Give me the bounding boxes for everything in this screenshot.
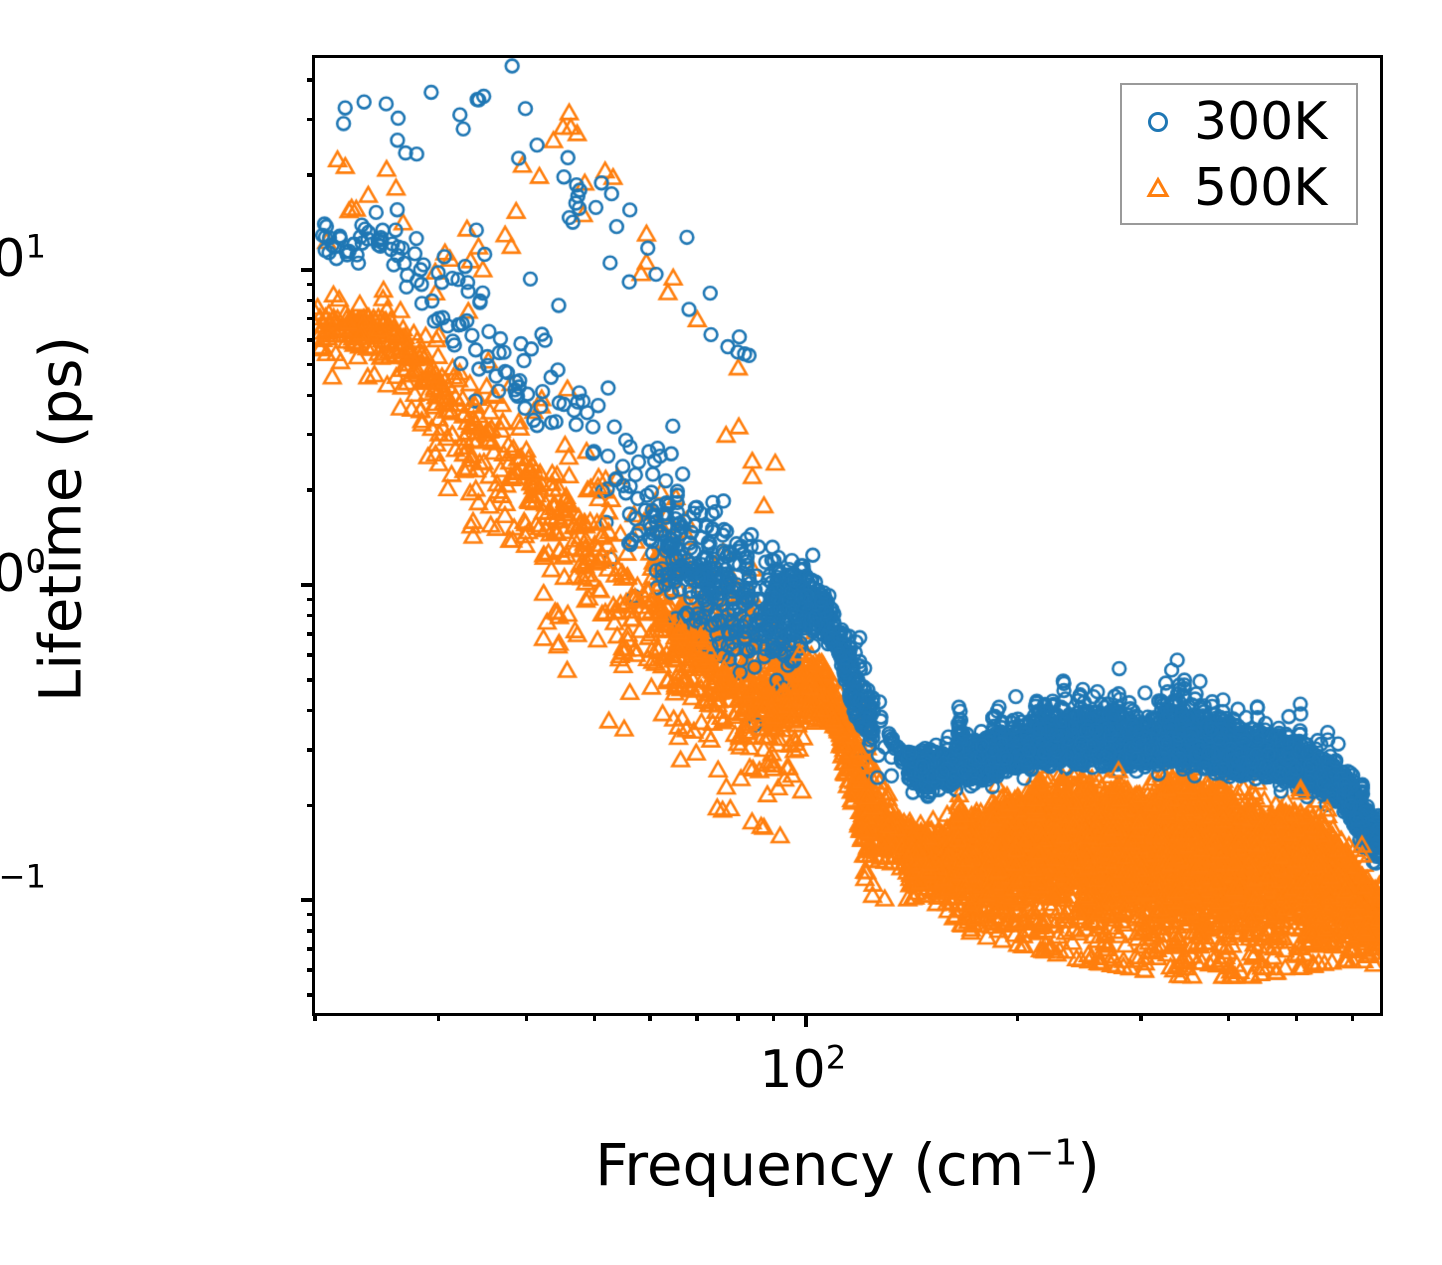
legend-label-500k: 500K [1194, 162, 1327, 214]
x-axis-tick [593, 1013, 597, 1021]
y-axis-tick [307, 338, 315, 342]
y-axis-tick [307, 929, 315, 933]
legend-circle-open-icon [1122, 91, 1194, 153]
y-axis-tick [307, 993, 315, 997]
y-axis-tick [307, 363, 315, 367]
y-axis-tick [307, 913, 315, 917]
y-axis-tick [307, 394, 315, 398]
y-axis-tick [307, 632, 315, 636]
y-axis-tick [307, 748, 315, 752]
x-axis-title-paren: ) [1077, 1131, 1100, 1199]
y-axis-tick [307, 78, 315, 82]
legend-box: 300K 500K [1120, 83, 1358, 225]
y-axis-tick [307, 173, 315, 177]
y-axis-tick [307, 804, 315, 808]
x-axis-title-exponent: −1 [1024, 1133, 1077, 1174]
x-axis-tick [313, 1013, 317, 1021]
x-axis-tick [695, 1013, 699, 1021]
x-axis-tick [437, 1013, 441, 1021]
x-axis-tick [648, 1013, 652, 1021]
y-axis-tick [301, 268, 315, 272]
y-axis-tick [307, 653, 315, 657]
y-axis-tick [307, 968, 315, 972]
x-axis-tick [1351, 1013, 1355, 1021]
x-axis-tick [1016, 1013, 1020, 1021]
legend-triangle-open-icon [1122, 157, 1194, 219]
y-axis-tick [307, 299, 315, 303]
y-axis-tick [307, 598, 315, 602]
legend-entry-300k[interactable]: 300K [1122, 91, 1356, 153]
x-axis-tick [1139, 1013, 1143, 1021]
y-axis-tick [307, 433, 315, 437]
y-axis-tick [301, 583, 315, 587]
legend-label-300k: 300K [1194, 96, 1327, 148]
y-axis-tick [307, 317, 315, 321]
x-axis-title: Frequency (cm−1) [312, 1136, 1383, 1194]
y-axis-tick [307, 947, 315, 951]
x-axis-tick [804, 1013, 808, 1027]
x-tick-label: 102 [760, 1044, 847, 1096]
x-axis-tick [1227, 1013, 1231, 1021]
x-axis-tick [1295, 1013, 1299, 1021]
y-axis-tick [307, 488, 315, 492]
legend-entry-500k[interactable]: 500K [1122, 157, 1356, 219]
y-axis-tick [307, 678, 315, 682]
figure-canvas: 10110010−1 102 Frequency (cm−1) Lifetime… [0, 0, 1442, 1265]
x-axis-tick [525, 1013, 529, 1021]
y-axis-tick [307, 709, 315, 713]
y-axis-tick [307, 283, 315, 287]
y-axis-tick [307, 614, 315, 618]
y-axis-tick [301, 898, 315, 902]
y-axis-title: Lifetime (ps) [32, 39, 90, 1000]
x-axis-tick [772, 1013, 776, 1021]
y-axis-tick [307, 118, 315, 122]
x-axis-tick [736, 1013, 740, 1021]
x-axis-title-text: Frequency (cm [595, 1131, 1024, 1199]
